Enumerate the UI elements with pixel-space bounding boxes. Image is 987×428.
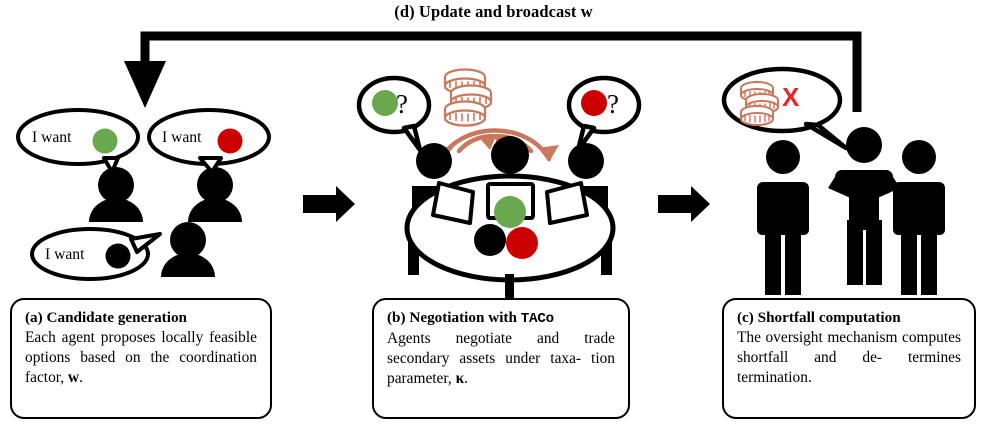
standing-figure-right: [893, 140, 945, 295]
laptop-right: [547, 183, 587, 223]
thought-bubble-left: [359, 78, 429, 150]
caption-box-a: (a) Candidate generation Each agent prop…: [10, 298, 272, 419]
negotiator-center: [482, 136, 538, 219]
caption-c-line-1: The oversight mechanism: [737, 329, 897, 346]
caption-box-c: (c) Shortfall computation The oversight …: [722, 298, 976, 419]
caption-b-title-taco: TACo: [521, 311, 554, 327]
red-asset-token: [506, 227, 538, 259]
agent-icon-1: [89, 167, 143, 222]
arrow-b-to-c: [658, 186, 710, 222]
caption-box-b: (b) Negotiation with TACo Agents negotia…: [372, 298, 630, 419]
trade-arrows: [441, 131, 549, 160]
caption-b-title-pre: (b) Negotiation with: [387, 309, 521, 326]
green-asset-token: [494, 196, 526, 228]
trade-arrow-heads: [432, 136, 559, 162]
feedback-loop-arrow: [124, 36, 857, 112]
caption-b-title: (b) Negotiation with TACo: [387, 308, 615, 328]
caption-b-symbol-kappa: κ: [456, 370, 465, 387]
caption-c-title: (c) Shortfall computation: [737, 308, 961, 327]
shortfall-x-icon: X: [782, 84, 799, 110]
caption-b-line-2: secondary assets under taxa-: [387, 350, 581, 367]
coin-stack-icon-b: [445, 70, 491, 126]
agent-icon-3: [161, 222, 215, 277]
panel-c-illustration: [724, 69, 945, 295]
pipeline-figure: (d) Update and broadcast w: [0, 0, 987, 428]
thought-bubble-right: [569, 78, 639, 150]
black-option-token: [106, 244, 131, 269]
bubble-label-3: I want: [45, 246, 84, 264]
arrow-a-to-b: [303, 186, 355, 222]
caption-a-body: Each agent proposes locally feasible opt…: [25, 328, 257, 388]
negotiator-right: [550, 143, 612, 275]
caption-a-line-3-post: .: [79, 369, 83, 386]
green-preference-token: [372, 90, 398, 116]
negotiator-left: [408, 143, 470, 275]
caption-b-line-3-post: .: [464, 370, 468, 387]
standing-figure-left: [757, 140, 809, 295]
bubble-label-1: I want: [32, 129, 71, 147]
caption-b-body: Agents negotiate and trade secondary ass…: [387, 329, 615, 389]
oversight-figure-center: [828, 127, 900, 285]
laptop-left: [433, 183, 473, 223]
question-mark-left: ?: [396, 91, 408, 118]
question-mark-right: ?: [607, 91, 619, 118]
loop-label-text: (d) Update and broadcast: [394, 2, 580, 21]
caption-a-line-1: Each agent proposes locally: [25, 329, 203, 346]
caption-a-symbol-w: w: [68, 369, 79, 386]
bubble-label-2: I want: [162, 129, 201, 147]
laptop-center: [488, 184, 533, 218]
black-asset-token: [474, 224, 506, 256]
loop-label: (d) Update and broadcast w: [0, 2, 987, 22]
red-preference-token: [581, 90, 607, 116]
agent-icon-2: [188, 167, 242, 222]
loop-label-symbol: w: [581, 2, 593, 21]
green-option-token: [93, 129, 118, 154]
caption-c-body: The oversight mechanism computes shortfa…: [737, 328, 961, 388]
caption-b-line-1: Agents negotiate and trade: [387, 330, 615, 347]
red-option-token: [218, 129, 243, 154]
caption-a-title: (a) Candidate generation: [25, 308, 257, 327]
coin-stack-icon-c: [741, 82, 778, 125]
